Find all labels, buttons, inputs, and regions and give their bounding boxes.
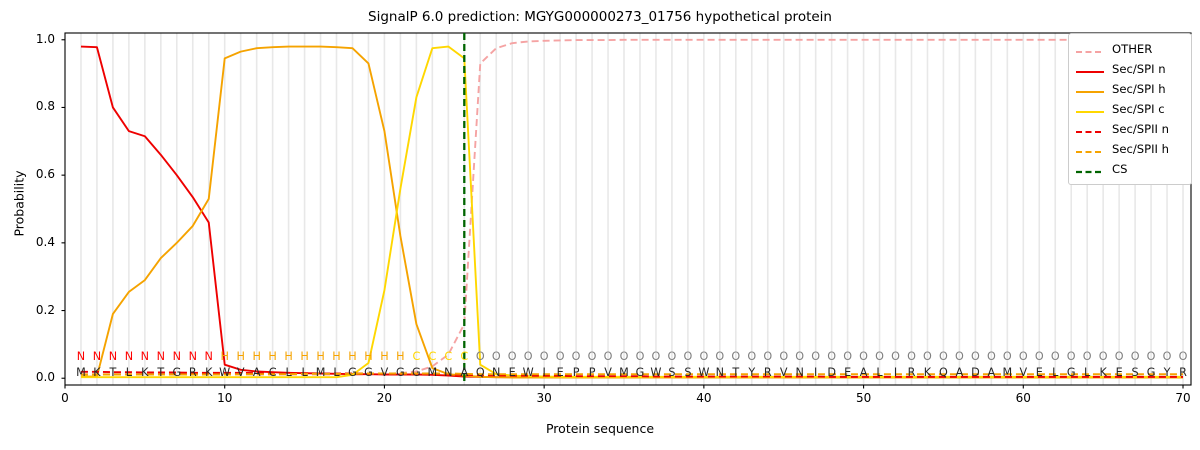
sequence-residue: Q (935, 366, 951, 379)
axis-ticks (62, 40, 1184, 389)
sequence-region-label: H (376, 350, 392, 363)
sequence-region-label: O (903, 350, 919, 363)
sequence-residue: L (1047, 366, 1063, 379)
sequence-region-label: O (808, 350, 824, 363)
sequence-residue: R (903, 366, 919, 379)
sequence-residue: K (919, 366, 935, 379)
series-line-sec-spi-c (81, 47, 1183, 378)
y-tick-label: 0.4 (0, 235, 55, 249)
sequence-residue: N (488, 366, 504, 379)
sequence-residue: I (536, 366, 552, 379)
sequence-region-label: C (408, 350, 424, 363)
x-tick-label: 40 (674, 391, 734, 405)
sequence-region-label: O (552, 350, 568, 363)
data-series (81, 40, 1183, 378)
sequence-region-label: O (999, 350, 1015, 363)
sequence-residue: W (217, 366, 233, 379)
legend-swatch-icon (1075, 103, 1105, 115)
sequence-region-label: O (632, 350, 648, 363)
legend-swatch-icon (1075, 143, 1105, 155)
legend-entry[interactable]: Sec/SPII n (1075, 119, 1185, 139)
y-tick-label: 0.0 (0, 370, 55, 384)
sequence-region-label: O (983, 350, 999, 363)
sequence-residue: L (121, 366, 137, 379)
plot-area (0, 0, 1200, 450)
sequence-residue: E (552, 366, 568, 379)
sequence-region-label: C (424, 350, 440, 363)
signalp-prediction-figure: SignalP 6.0 prediction: MGYG000000273_01… (0, 0, 1200, 450)
sequence-region-label: H (344, 350, 360, 363)
legend-swatch-icon (1075, 83, 1105, 95)
sequence-residue: A (983, 366, 999, 379)
sequence-region-label: O (856, 350, 872, 363)
sequence-residue: T (105, 366, 121, 379)
sequence-residue: S (680, 366, 696, 379)
sequence-residue: V (776, 366, 792, 379)
x-tick-label: 10 (195, 391, 255, 405)
sequence-region-label: O (888, 350, 904, 363)
sequence-residue: V (1015, 366, 1031, 379)
legend[interactable]: OTHERSec/SPI nSec/SPI hSec/SPI cSec/SPII… (1068, 33, 1192, 185)
sequence-region-label: O (840, 350, 856, 363)
sequence-residue: M (313, 366, 329, 379)
sequence-residue: W (520, 366, 536, 379)
sequence-region-label: C (456, 350, 472, 363)
sequence-residue: L (872, 366, 888, 379)
sequence-region-label: O (919, 350, 935, 363)
sequence-residue: M (424, 366, 440, 379)
sequence-region-label: N (201, 350, 217, 363)
sequence-residue: E (504, 366, 520, 379)
sequence-residue: E (840, 366, 856, 379)
sequence-residue: S (1127, 366, 1143, 379)
sequence-residue: V (233, 366, 249, 379)
sequence-region-label: O (488, 350, 504, 363)
sequence-region-label: O (648, 350, 664, 363)
sequence-residue: L (281, 366, 297, 379)
sequence-residue: G (392, 366, 408, 379)
sequence-region-label: O (584, 350, 600, 363)
sequence-residue: E (1031, 366, 1047, 379)
legend-swatch-icon (1075, 123, 1105, 135)
legend-entry[interactable]: Sec/SPI c (1075, 99, 1185, 119)
sequence-region-label: H (249, 350, 265, 363)
sequence-region-label: N (137, 350, 153, 363)
sequence-region-label: O (1047, 350, 1063, 363)
sequence-region-label: H (360, 350, 376, 363)
sequence-region-label: N (73, 350, 89, 363)
sequence-region-label: N (105, 350, 121, 363)
sequence-residue: A (856, 366, 872, 379)
x-tick-label: 0 (35, 391, 95, 405)
sequence-residue: R (185, 366, 201, 379)
sequence-residue: R (760, 366, 776, 379)
sequence-residue: M (999, 366, 1015, 379)
sequence-residue: M (73, 366, 89, 379)
sequence-region-label: O (1111, 350, 1127, 363)
sequence-residue: D (967, 366, 983, 379)
sequence-region-label: O (680, 350, 696, 363)
sequence-residue: A (249, 366, 265, 379)
sequence-residue: G (360, 366, 376, 379)
sequence-region-label: H (313, 350, 329, 363)
series-line-sec-spi-h (81, 47, 1183, 378)
sequence-residue: E (1111, 366, 1127, 379)
sequence-region-label: O (472, 350, 488, 363)
sequence-region-label: O (616, 350, 632, 363)
sequence-residue: K (1095, 366, 1111, 379)
legend-entry[interactable]: Sec/SPI h (1075, 79, 1185, 99)
sequence-region-label: H (217, 350, 233, 363)
legend-swatch-icon (1075, 163, 1105, 175)
sequence-residue: G (632, 366, 648, 379)
legend-label: OTHER (1112, 42, 1152, 56)
series-line-sec-spi-n (81, 47, 1183, 378)
sequence-region-label: H (329, 350, 345, 363)
sequence-residue: P (568, 366, 584, 379)
legend-label: Sec/SPII n (1112, 122, 1169, 136)
sequence-region-label: O (776, 350, 792, 363)
sequence-residue: K (201, 366, 217, 379)
sequence-region-label: H (297, 350, 313, 363)
sequence-residue: T (728, 366, 744, 379)
sequence-residue: P (584, 366, 600, 379)
x-axis-label: Protein sequence (0, 421, 1200, 436)
sequence-region-label: O (664, 350, 680, 363)
sequence-region-label: O (1079, 350, 1095, 363)
sequence-region-label: O (951, 350, 967, 363)
legend-entry[interactable]: OTHER (1075, 39, 1185, 59)
sequence-residue: W (648, 366, 664, 379)
sequence-region-label: O (792, 350, 808, 363)
sequence-region-label: O (520, 350, 536, 363)
y-tick-label: 1.0 (0, 32, 55, 46)
legend-label: CS (1112, 162, 1127, 176)
sequence-region-label: H (281, 350, 297, 363)
y-tick-label: 0.2 (0, 303, 55, 317)
sequence-region-label: H (265, 350, 281, 363)
sequence-residue: Y (1159, 366, 1175, 379)
plot-frame (65, 33, 1191, 385)
sequence-residue: K (137, 366, 153, 379)
sequence-residue: G (1143, 366, 1159, 379)
sequence-residue: V (376, 366, 392, 379)
sequence-region-label: O (824, 350, 840, 363)
sequence-residue: T (153, 366, 169, 379)
sequence-region-label: O (600, 350, 616, 363)
sequence-residue: N (440, 366, 456, 379)
sequence-residue: M (616, 366, 632, 379)
sequence-region-label: N (185, 350, 201, 363)
sequence-residue: L (1079, 366, 1095, 379)
y-tick-label: 0.8 (0, 99, 55, 113)
sequence-residue: G (1063, 366, 1079, 379)
x-tick-label: 60 (993, 391, 1053, 405)
sequence-region-label: N (169, 350, 185, 363)
legend-entry[interactable]: Sec/SPI n (1075, 59, 1185, 79)
x-tick-label: 30 (514, 391, 574, 405)
sequence-residue: N (712, 366, 728, 379)
sequence-region-label: C (440, 350, 456, 363)
sequence-residue: K (89, 366, 105, 379)
sequence-residue: C (265, 366, 281, 379)
sequence-residue: I (888, 366, 904, 379)
sequence-region-label: O (935, 350, 951, 363)
sequence-region-label: H (233, 350, 249, 363)
sequence-residue: G (344, 366, 360, 379)
x-tick-label: 50 (834, 391, 894, 405)
sequence-region-label: O (568, 350, 584, 363)
legend-swatch-icon (1075, 63, 1105, 75)
sequence-region-label: O (696, 350, 712, 363)
sequence-residue: N (792, 366, 808, 379)
legend-label: Sec/SPII h (1112, 142, 1169, 156)
sequence-region-label: N (121, 350, 137, 363)
sequence-residue: L (329, 366, 345, 379)
legend-label: Sec/SPI h (1112, 82, 1166, 96)
sequence-region-label: O (504, 350, 520, 363)
sequence-region-label: N (153, 350, 169, 363)
sequence-region-label: O (1031, 350, 1047, 363)
sequence-region-label: O (728, 350, 744, 363)
sequence-residue: Q (472, 366, 488, 379)
sequence-residue: A (456, 366, 472, 379)
sequence-region-label: O (1143, 350, 1159, 363)
sequence-region-label: H (392, 350, 408, 363)
y-tick-label: 0.6 (0, 167, 55, 181)
sequence-region-label: O (1063, 350, 1079, 363)
legend-label: Sec/SPI c (1112, 102, 1165, 116)
sequence-region-label: O (872, 350, 888, 363)
series-line-other (81, 40, 1183, 375)
x-tick-label: 20 (354, 391, 414, 405)
legend-label: Sec/SPI n (1112, 62, 1166, 76)
sequence-residue: I (808, 366, 824, 379)
sequence-region-label: O (1175, 350, 1191, 363)
sequence-residue: S (664, 366, 680, 379)
sequence-region-label: N (89, 350, 105, 363)
legend-entry[interactable]: Sec/SPII h (1075, 139, 1185, 159)
sequence-region-label: O (1095, 350, 1111, 363)
sequence-residue: L (297, 366, 313, 379)
legend-swatch-icon (1075, 43, 1105, 55)
sequence-region-label: O (967, 350, 983, 363)
sequence-residue: W (696, 366, 712, 379)
sequence-region-label: O (536, 350, 552, 363)
sequence-region-label: O (712, 350, 728, 363)
sequence-region-label: O (1159, 350, 1175, 363)
sequence-region-label: O (744, 350, 760, 363)
sequence-residue: G (169, 366, 185, 379)
sequence-residue: G (408, 366, 424, 379)
sequence-residue: A (951, 366, 967, 379)
sequence-region-label: O (1127, 350, 1143, 363)
sequence-region-label: O (760, 350, 776, 363)
sequence-residue: D (824, 366, 840, 379)
sequence-residue: Y (744, 366, 760, 379)
sequence-residue: V (600, 366, 616, 379)
gridlines (81, 33, 1183, 385)
legend-entry[interactable]: CS (1075, 159, 1185, 179)
sequence-region-label: O (1015, 350, 1031, 363)
x-tick-label: 70 (1153, 391, 1200, 405)
sequence-residue: R (1175, 366, 1191, 379)
